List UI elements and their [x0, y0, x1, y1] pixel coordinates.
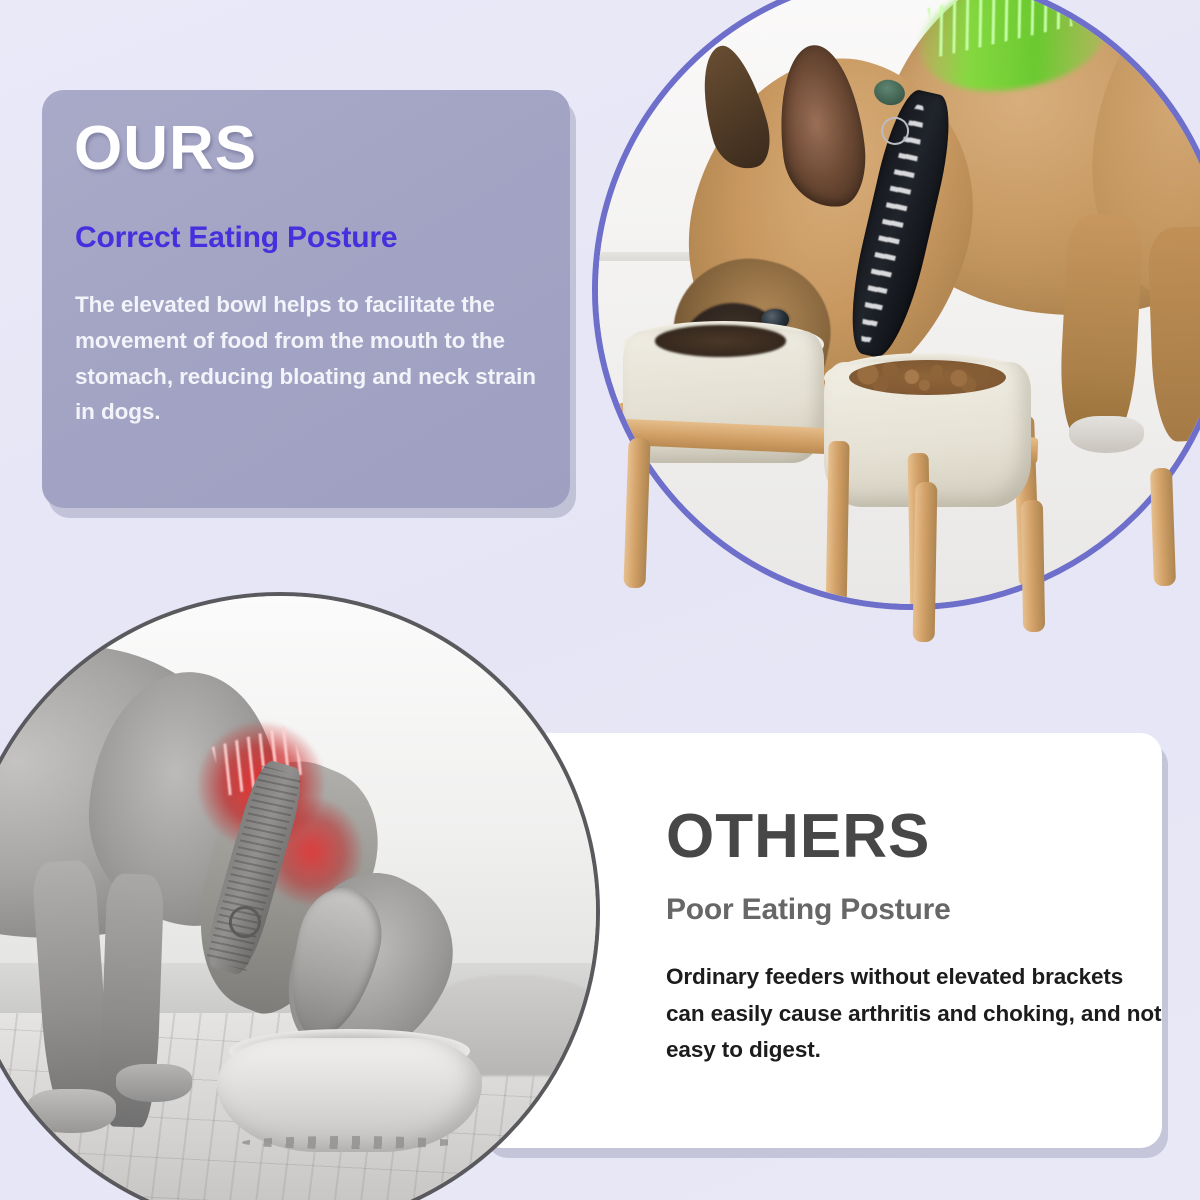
ours-body-text: The elevated bowl helps to facilitate th… [75, 287, 547, 430]
water-bowl-contents [655, 325, 787, 356]
stand-leg-2 [826, 441, 851, 610]
others-title: OTHERS [666, 806, 930, 868]
stand-leg-3 [907, 453, 931, 610]
others-photo-circle [0, 592, 600, 1200]
others-subtitle: Poor Eating Posture [666, 893, 951, 927]
photo-inner [598, 0, 1200, 604]
ours-subtitle: Correct Eating Posture [75, 221, 397, 255]
others-body-text: Ordinary feeders without elevated bracke… [666, 959, 1166, 1069]
elevated-stand-assembly [598, 0, 1200, 604]
floor-bowl-vents [242, 1136, 457, 1149]
gray-dog-paw-left [27, 1089, 115, 1133]
floor-bowl [217, 1038, 482, 1152]
ours-panel-card: OURS Correct Eating Posture The elevated… [42, 90, 570, 508]
ours-title: OURS [74, 118, 257, 180]
gray-dog-paw-right [116, 1064, 192, 1102]
ours-photo-circle [592, 0, 1200, 610]
infographic-stage: OURS Correct Eating Posture The elevated… [0, 0, 1200, 1200]
